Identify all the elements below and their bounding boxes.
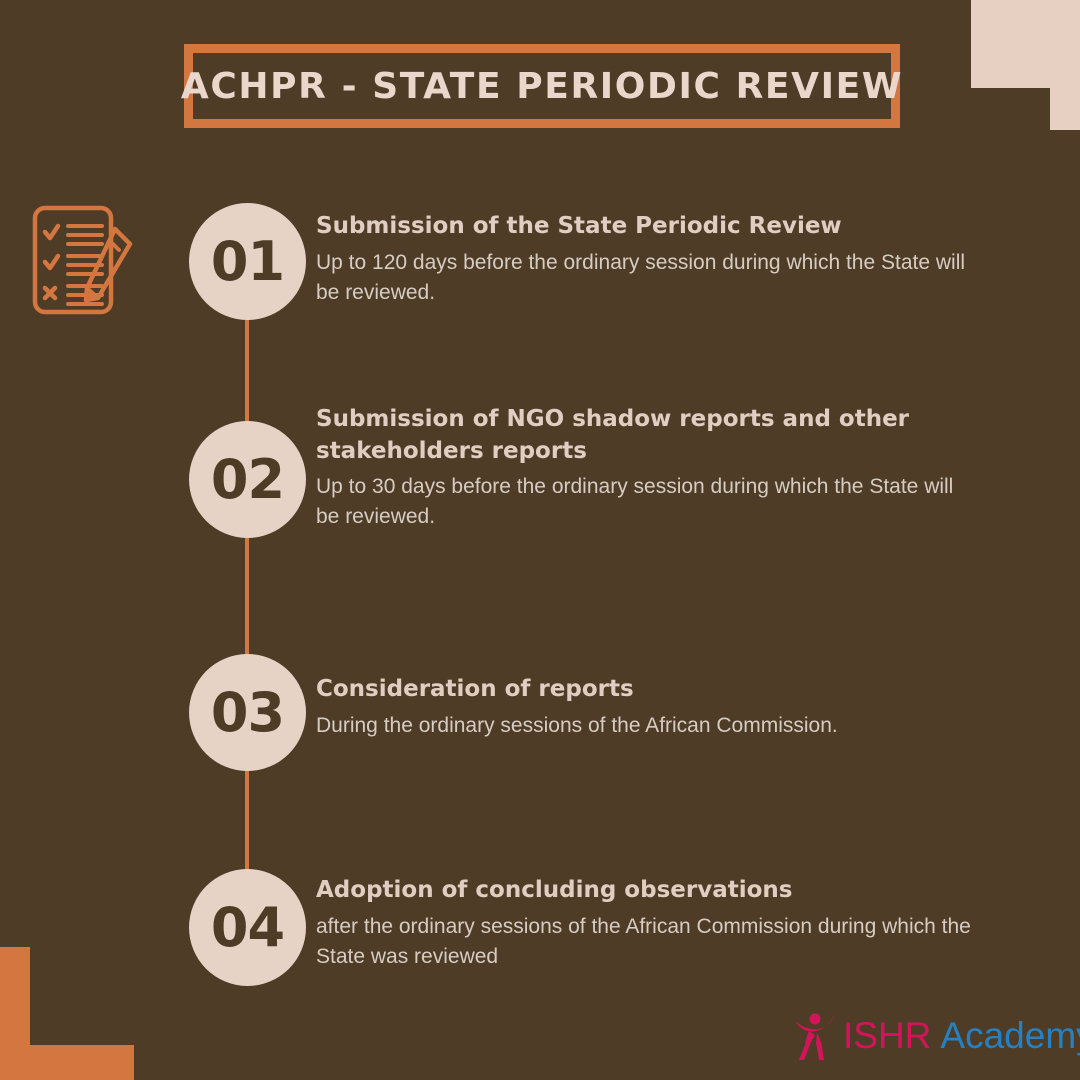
logo-text-ishr: ISHR xyxy=(843,1017,931,1054)
step-badge-03: 03 xyxy=(189,654,306,771)
page-title: ACHPR - STATE PERIODIC REVIEW xyxy=(181,66,903,107)
checklist-clipboard-pencil-icon xyxy=(24,200,144,320)
step-title-01: Submission of the State Periodic Review xyxy=(316,211,976,243)
step-description-04: after the ordinary sessions of the Afric… xyxy=(316,912,976,972)
step-content-04: Adoption of concluding observations afte… xyxy=(316,875,976,971)
timeline-connector-1 xyxy=(245,318,249,424)
step-description-03: During the ordinary sessions of the Afri… xyxy=(316,711,976,741)
step-number-03: 03 xyxy=(211,686,284,740)
step-title-03: Consideration of reports xyxy=(316,674,976,706)
step-badge-02: 02 xyxy=(189,421,306,538)
step-content-01: Submission of the State Periodic Review … xyxy=(316,211,976,307)
corner-decoration-top-right-vertical xyxy=(1050,0,1080,130)
ishr-academy-logo: ISHR Academy xyxy=(793,1008,1080,1062)
step-description-01: Up to 120 days before the ordinary sessi… xyxy=(316,248,976,308)
page-title-box: ACHPR - STATE PERIODIC REVIEW xyxy=(184,44,900,128)
ishr-person-icon xyxy=(793,1009,839,1061)
corner-decoration-bottom-left-horizontal xyxy=(0,1045,134,1080)
step-content-03: Consideration of reports During the ordi… xyxy=(316,674,976,741)
step-badge-01: 01 xyxy=(189,203,306,320)
step-number-01: 01 xyxy=(211,235,284,289)
step-number-04: 04 xyxy=(211,901,284,955)
step-badge-04: 04 xyxy=(189,869,306,986)
step-title-02: Submission of NGO shadow reports and oth… xyxy=(316,404,976,467)
infographic-canvas: ACHPR - STATE PERIODIC REVIEW 01 Submiss… xyxy=(0,0,1080,1080)
timeline-connector-3 xyxy=(245,768,249,872)
logo-text-academy: Academy xyxy=(940,1017,1080,1054)
step-number-02: 02 xyxy=(211,453,284,507)
step-description-02: Up to 30 days before the ordinary sessio… xyxy=(316,472,976,532)
step-content-02: Submission of NGO shadow reports and oth… xyxy=(316,404,976,532)
step-title-04: Adoption of concluding observations xyxy=(316,875,976,907)
timeline-connector-2 xyxy=(245,536,249,657)
